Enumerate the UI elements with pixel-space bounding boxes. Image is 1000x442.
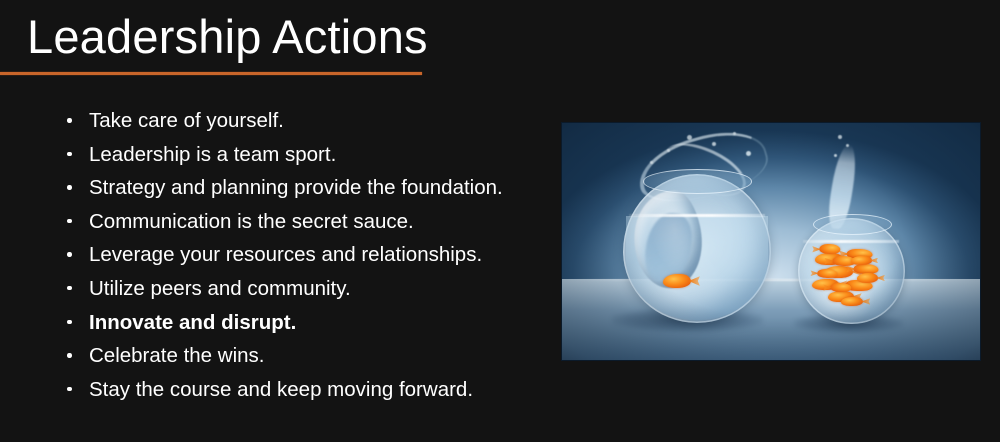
goldfish [817, 269, 837, 278]
goldfish [841, 297, 863, 307]
large-bowl-rim [643, 169, 752, 193]
photo-horizon-line [562, 279, 980, 281]
photo-content [562, 123, 980, 360]
bullet-dot-icon [67, 353, 72, 358]
list-item-label: Leadership is a team sport. [89, 143, 336, 166]
list-item: Innovate and disrupt. [62, 306, 542, 340]
goldfish [819, 244, 840, 254]
goldfish [830, 283, 851, 293]
list-item-label: Celebrate the wins. [89, 344, 264, 367]
water-droplet [667, 149, 670, 152]
bullet-dot-icon [67, 286, 72, 291]
goldfish [851, 256, 871, 265]
water-droplet [834, 154, 837, 157]
goldfish-bowls-photo [561, 122, 981, 361]
small-bowl-rim [813, 214, 892, 235]
slide-canvas: Leadership Actions Take care of yourself… [0, 0, 1000, 442]
bullet-dot-icon [67, 185, 72, 190]
bullet-dot-icon [67, 219, 72, 224]
list-item-label: Take care of yourself. [89, 109, 284, 132]
bullet-dot-icon [67, 152, 72, 157]
bullet-dot-icon [67, 387, 72, 392]
list-item-label: Leverage your resources and relationship… [89, 243, 482, 266]
bullet-dot-icon [67, 118, 72, 123]
list-item-label: Innovate and disrupt. [89, 311, 296, 334]
title-block: Leadership Actions [27, 8, 457, 66]
title-underline-rule [0, 72, 422, 75]
list-item: Utilize peers and community. [62, 272, 542, 306]
water-droplet [650, 161, 653, 164]
list-item-label: Utilize peers and community. [89, 277, 351, 300]
list-item: Strategy and planning provide the founda… [62, 171, 542, 205]
list-item: Take care of yourself. [62, 104, 542, 138]
list-item-label: Communication is the secret sauce. [89, 210, 414, 233]
water-droplet [838, 135, 842, 139]
list-item: Leadership is a team sport. [62, 138, 542, 172]
large-bowl-waterline [629, 214, 766, 217]
list-item: Leverage your resources and relationship… [62, 238, 542, 272]
bullet-dot-icon [67, 320, 72, 325]
large-fishbowl [623, 174, 771, 323]
list-item-label: Stay the course and keep moving forward. [89, 378, 473, 401]
page-title: Leadership Actions [27, 8, 457, 66]
list-item: Communication is the secret sauce. [62, 205, 542, 239]
list-item: Stay the course and keep moving forward. [62, 373, 542, 407]
list-item-label: Strategy and planning provide the founda… [89, 176, 503, 199]
leadership-actions-list: Take care of yourself. Leadership is a t… [62, 104, 542, 406]
small-fishbowl [798, 218, 905, 325]
list-item: Celebrate the wins. [62, 339, 542, 373]
lone-goldfish [663, 274, 691, 288]
small-bowl-waterline [803, 240, 899, 243]
goldfish [857, 273, 878, 283]
bullet-dot-icon [67, 252, 72, 257]
